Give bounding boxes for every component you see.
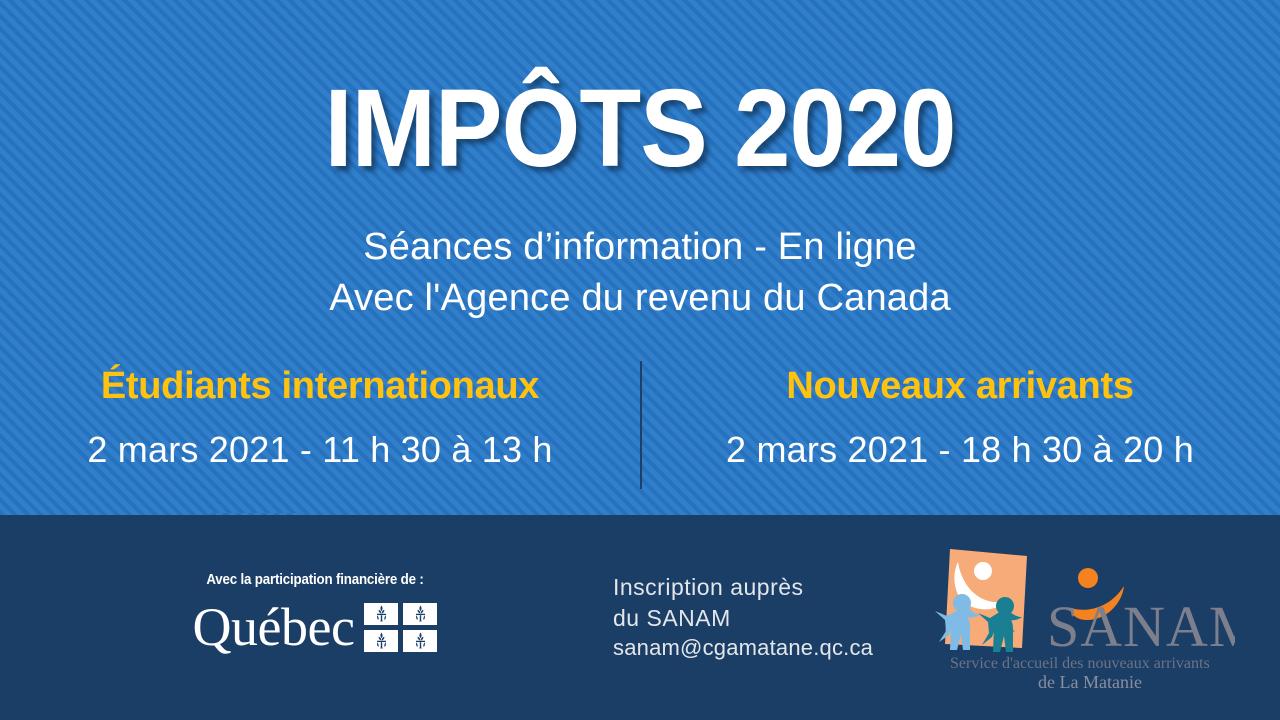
session-heading: Étudiants internationaux — [0, 365, 640, 408]
subtitle-line-1: Séances d’information - En ligne — [363, 226, 917, 268]
fleur-de-lis-icon — [364, 603, 398, 625]
quebec-wordmark: Québec — [193, 600, 355, 654]
session-heading: Nouveaux arrivants — [640, 365, 1280, 408]
sanam-wordmark-text: SANAM — [1047, 594, 1235, 659]
page-title: IMPÔTS 2020 — [51, 74, 1229, 184]
session-date: 2 mars 2021 - 11 h 30 à 13 h — [0, 429, 640, 471]
session-column-newcomers: Nouveaux arrivants 2 mars 2021 - 18 h 30… — [640, 365, 1280, 495]
poster: IMPÔTS 2020 Séances d’information - En l… — [0, 0, 1280, 720]
sanam-tagline-line-2: de La Matanie — [1038, 672, 1142, 692]
fleur-de-lis-icon — [403, 630, 437, 652]
column-divider — [640, 361, 642, 489]
sanam-tagline-line-1: Service d'accueil des nouveaux arrivants — [950, 655, 1210, 672]
registration-line-1: Inscription auprès — [613, 572, 873, 603]
fleur-de-lis-icon — [364, 630, 398, 652]
registration-email[interactable]: sanam@cgamatane.qc.ca — [613, 633, 873, 662]
subtitle-line-2: Avec l'Agence du revenu du Canada — [0, 273, 1280, 324]
session-column-students: Étudiants internationaux 2 mars 2021 - 1… — [0, 365, 640, 495]
quebec-flag-icon — [364, 603, 437, 652]
quebec-funding-block: Avec la participation financière de : Qu… — [180, 572, 450, 654]
registration-line-2: du SANAM — [613, 603, 873, 634]
funding-caption: Avec la participation financière de : — [191, 572, 439, 588]
quebec-logo: Québec — [180, 600, 450, 654]
registration-info: Inscription auprès du SANAM sanam@cgamat… — [613, 572, 873, 662]
sanam-logo: SANAM Service d'accueil des nouveaux arr… — [925, 538, 1235, 698]
fleur-de-lis-icon — [403, 603, 437, 625]
subtitle: Séances d’information - En ligne Avec l'… — [0, 222, 1280, 323]
session-date: 2 mars 2021 - 18 h 30 à 20 h — [640, 429, 1280, 471]
